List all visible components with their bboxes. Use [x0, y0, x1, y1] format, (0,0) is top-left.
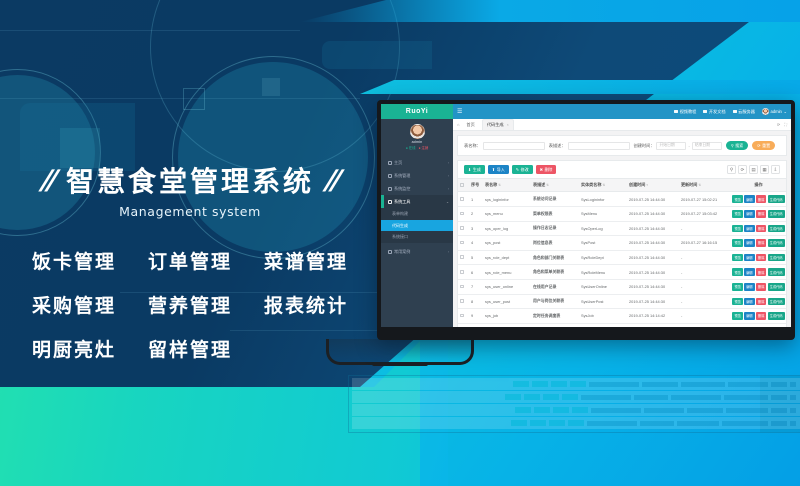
doc-icon — [703, 110, 707, 113]
cell-index: 3 — [469, 221, 483, 236]
feature-item: 订单管理 — [132, 247, 248, 274]
home-icon — [388, 161, 392, 165]
generate-code-button[interactable]: 生成代码 — [768, 239, 785, 247]
sidebar-item-label: 系统管理 — [394, 173, 410, 179]
app-topbar: ☰ 视频教程 开发文档 云服务器 — [453, 104, 791, 119]
slash-left-icon: // — [41, 165, 56, 196]
reflection-table — [352, 378, 800, 430]
cloud-icon — [733, 110, 737, 113]
cell-updated: - — [679, 250, 731, 265]
tab-bar: ⌂ 首页 代码生成 × ⟳ ⛶ — [453, 119, 791, 131]
checkbox-icon[interactable] — [460, 241, 464, 245]
cell-created: 2019-07-25 14:14:42 — [627, 309, 679, 324]
delete-button[interactable]: 删除 — [756, 298, 766, 306]
home-icon[interactable]: ⌂ — [457, 122, 459, 127]
decor-line-1 — [0, 30, 300, 31]
cell-table-name: sys_user_post — [483, 294, 531, 309]
status-online: ● 在线 — [406, 145, 416, 150]
edit-button[interactable]: 编辑 — [744, 254, 754, 262]
cell-entity: SysJob — [579, 309, 627, 324]
generate-code-button[interactable]: 生成代码 — [768, 195, 785, 203]
cell-updated: - — [679, 309, 731, 324]
cell-actions: 预览 编辑 删除 生成代码 — [731, 250, 786, 265]
topbar-link-docs[interactable]: 开发文档 — [703, 109, 725, 115]
checkbox-icon[interactable] — [460, 270, 464, 274]
generate-code-button[interactable]: 生成代码 — [768, 283, 785, 291]
topbar-link-label: 云服务器 — [738, 109, 755, 115]
edit-button[interactable]: 编辑 — [744, 298, 754, 306]
column-entity-name[interactable]: 实体类名称⇅ — [579, 179, 627, 192]
chevron-right-icon: › — [448, 250, 449, 254]
cell-created: 2019-07-24 14:57:03 — [627, 323, 679, 327]
row-checkbox-cell[interactable] — [458, 309, 469, 324]
sidebar-item-label: 系统工具 — [394, 199, 410, 205]
cell-table-desc: 角色信息表 — [531, 323, 579, 327]
cell-table-name: sys_role — [483, 323, 531, 327]
field-label: 表描述： — [549, 143, 566, 149]
sidebar-menu: 主页 › 系统管理 › 系统监控 › 系统工具 — [381, 157, 453, 259]
table-row[interactable]: 9 sys_job 定时任务调度表 SysJob 2019-07-25 14:1… — [458, 309, 786, 324]
trash-icon: ✖ — [540, 167, 543, 172]
cell-created: 2019-07-25 14:44:30 — [627, 294, 679, 309]
monitor-stand — [326, 339, 474, 365]
cell-entity: SysMenu — [579, 206, 627, 221]
sidebar-item-label: 主页 — [394, 160, 402, 166]
cell-entity: SysLogininfor — [579, 192, 627, 207]
field-create-time: 创建时间： 开始日期 - 结束日期 — [634, 142, 722, 150]
cell-index: 2 — [469, 206, 483, 221]
feature-item: 报表统计 — [248, 291, 364, 318]
top-accent-line — [360, 80, 800, 94]
topbar-link-video[interactable]: 视频教程 — [674, 109, 696, 115]
cell-actions: 预览 编辑 删除 生成代码 — [731, 192, 786, 207]
menu-toggle-icon[interactable]: ☰ — [457, 108, 462, 115]
chevron-right-icon: › — [448, 174, 449, 178]
reset-button[interactable]: ⟳ 重置 — [752, 141, 775, 150]
avatar[interactable] — [410, 124, 425, 139]
topbar-link-label: 开发文档 — [709, 109, 726, 115]
field-label: 表名称： — [464, 143, 481, 149]
delete-button[interactable]: 删除 — [756, 268, 766, 276]
monitor-frame: RuoYi admin ● 在线 ● 注销 主页 › — [377, 100, 795, 340]
cell-actions: 预览 编辑 删除 生成代码 — [731, 221, 786, 236]
cell-entity: SysOperLog — [579, 221, 627, 236]
topbar-username: admin — [770, 109, 781, 114]
search-button[interactable]: ⚲ 搜索 — [726, 141, 748, 150]
feature-list: 饭卡管理 订单管理 菜谱管理 采购管理 营养管理 报表统计 明厨亮灶 留样管理 — [0, 247, 380, 362]
cell-index: 5 — [469, 250, 483, 265]
decor-line-2 — [0, 98, 360, 99]
table-header-row: 序号 表名称⇅ 表描述⇅ 实体类名称⇅ 创建时间▾ 更新时间⇅ 操作 — [458, 179, 786, 192]
feature-item: 留样管理 — [132, 335, 248, 362]
cell-updated: 2019-07-27 16:16:15 — [679, 236, 731, 251]
chevron-down-icon: ⌄ — [446, 200, 449, 204]
cell-entity: SysUserOnline — [579, 279, 627, 294]
tab-home[interactable]: 首页 — [462, 120, 478, 130]
grid-icon[interactable]: ▦ — [760, 165, 769, 174]
columns-icon[interactable]: ▤ — [749, 165, 758, 174]
cell-entity: SysUserPost — [579, 294, 627, 309]
date-range-separator: - — [688, 143, 689, 148]
topbar-user-menu[interactable]: admin ⌄ — [762, 108, 787, 115]
reflection-row — [352, 391, 800, 403]
cell-table-name: sys_role_dept — [483, 250, 531, 265]
table-toolbar-icons: ⚲ ⟳ ▤ ▦ ⇩ — [727, 165, 780, 174]
edit-button[interactable]: 编辑 — [744, 195, 754, 203]
cell-updated: - — [679, 265, 731, 280]
cell-updated: - — [679, 294, 731, 309]
edit-button[interactable]: 编辑 — [744, 312, 754, 320]
column-select-all[interactable] — [458, 179, 469, 192]
cell-created: 2019-07-25 14:44:30 — [627, 265, 679, 280]
decor-rect-2 — [322, 41, 432, 69]
search-input-table-name[interactable] — [483, 142, 545, 150]
cell-table-desc: 岗位信息表 — [531, 236, 579, 251]
import-button[interactable]: ⬆ 导入 — [488, 165, 509, 174]
row-checkbox-cell[interactable] — [458, 192, 469, 207]
preview-button[interactable]: 预览 — [732, 210, 742, 218]
cell-updated: - — [679, 279, 731, 294]
cell-created: 2019-07-25 14:44:30 — [627, 221, 679, 236]
cell-table-name: sys_menu — [483, 206, 531, 221]
video-icon — [674, 110, 678, 113]
refresh-icon[interactable]: ⟳ — [777, 122, 780, 127]
row-checkbox-cell[interactable] — [458, 236, 469, 251]
delete-button[interactable]: 删除 — [756, 195, 766, 203]
cell-table-name: sys_role_menu — [483, 265, 531, 280]
tab-bar-right: ⟳ ⛶ — [777, 122, 787, 127]
table-body: 1 sys_logininfor 系统访问记录 SysLogininfor 20… — [458, 192, 786, 327]
sidebar-item-cases[interactable]: 常用案例 › — [381, 246, 453, 259]
preview-button[interactable]: 预览 — [732, 239, 742, 247]
checkbox-icon[interactable] — [460, 314, 464, 318]
app-logo[interactable]: RuoYi — [381, 104, 453, 119]
generate-button-label: 生成 — [473, 167, 481, 173]
sidebar-status: ● 在线 ● 注销 — [385, 145, 449, 150]
cell-created: 2019-07-25 14:44:30 — [627, 236, 679, 251]
sort-icon: ⇅ — [698, 183, 701, 187]
sidebar-item-system[interactable]: 系统管理 › — [381, 170, 453, 183]
screen: RuoYi admin ● 在线 ● 注销 主页 › — [381, 104, 791, 327]
sidebar-username: admin — [385, 140, 449, 144]
cell-updated: - — [679, 323, 731, 327]
sort-icon: ⇅ — [498, 183, 501, 187]
checkbox-icon[interactable] — [460, 299, 464, 303]
cell-table-desc: 系统访问记录 — [531, 192, 579, 207]
cell-updated: 2019-07-27 15:02:21 — [679, 192, 731, 207]
checkbox-icon[interactable] — [460, 226, 464, 230]
fullscreen-icon[interactable]: ⛶ — [784, 122, 787, 127]
field-label: 创建时间： — [634, 143, 655, 149]
cell-table-desc: 用户与岗位关联表 — [531, 294, 579, 309]
export-icon[interactable]: ⇩ — [771, 165, 780, 174]
delete-button-label: 删除 — [544, 167, 552, 173]
chevron-right-icon: › — [448, 161, 449, 165]
table-row[interactable]: 6 sys_role_menu 角色和菜单关联表 SysRoleMenu 201… — [458, 265, 786, 280]
row-checkbox-cell[interactable] — [458, 250, 469, 265]
table-row[interactable]: 1 sys_logininfor 系统访问记录 SysLogininfor 20… — [458, 192, 786, 207]
field-table-desc: 表描述： — [549, 142, 630, 150]
refresh-icon[interactable]: ⟳ — [738, 165, 747, 174]
pencil-icon: ✎ — [516, 167, 519, 172]
tab-label: 代码生成 — [487, 122, 504, 127]
row-checkbox-cell[interactable] — [458, 206, 469, 221]
sort-desc-icon: ▾ — [646, 183, 648, 187]
cell-updated: - — [679, 221, 731, 236]
cell-actions: 预览 编辑 删除 生成代码 — [731, 236, 786, 251]
delete-button[interactable]: 删除 — [756, 254, 766, 262]
poster-canvas: // 智慧食堂管理系统 // Management system 饭卡管理 订单… — [0, 0, 800, 486]
edit-button[interactable]: 编辑 — [744, 210, 754, 218]
checkbox-icon[interactable] — [460, 285, 464, 289]
search-input-table-desc[interactable] — [568, 142, 630, 150]
cell-index: 9 — [469, 309, 483, 324]
cell-actions: 预览 编辑 删除 生成代码 — [731, 206, 786, 221]
tab-code-gen[interactable]: 代码生成 × — [482, 119, 514, 130]
cell-created: 2019-07-25 14:44:30 — [627, 192, 679, 207]
cell-entity: SysRole — [579, 323, 627, 327]
table-row[interactable]: 2 sys_menu 菜单权限表 SysMenu 2019-07-25 14:4… — [458, 206, 786, 221]
checkbox-icon[interactable] — [460, 255, 464, 259]
column-table-name[interactable]: 表名称⇅ — [483, 179, 531, 192]
edit-button[interactable]: 编辑 — [744, 283, 754, 291]
edit-button[interactable]: 编辑 — [744, 225, 754, 233]
cell-index: 10 — [469, 323, 483, 327]
row-checkbox-cell[interactable] — [458, 323, 469, 327]
sidebar-item-monitor[interactable]: 系统监控 › — [381, 183, 453, 196]
cell-index: 8 — [469, 294, 483, 309]
page-subtitle: Management system — [0, 204, 380, 219]
generate-code-button[interactable]: 生成代码 — [768, 312, 785, 320]
cell-table-desc: 操作日志记录 — [531, 221, 579, 236]
edit-button[interactable]: 编辑 — [744, 239, 754, 247]
cell-actions: 预览 编辑 删除 生成代码 — [731, 323, 786, 327]
delete-button[interactable]: 删除 — [756, 312, 766, 320]
delete-button[interactable]: 删除 — [756, 210, 766, 218]
cell-actions: 预览 编辑 删除 生成代码 — [731, 265, 786, 280]
search-button-label: 搜索 — [735, 143, 743, 149]
generate-code-button[interactable]: 生成代码 — [768, 268, 785, 276]
table-row[interactable]: 10 sys_role 角色信息表 SysRole 2019-07-24 14:… — [458, 323, 786, 327]
cell-index: 7 — [469, 279, 483, 294]
app-sidebar: RuoYi admin ● 在线 ● 注销 主页 › — [381, 104, 453, 327]
cell-actions: 预览 编辑 删除 生成代码 — [731, 279, 786, 294]
reflection-row — [352, 378, 800, 390]
row-checkbox-cell[interactable] — [458, 265, 469, 280]
field-table-name: 表名称： — [464, 142, 545, 150]
feature-item: 明厨亮灶 — [16, 335, 132, 362]
table-row[interactable]: 5 sys_role_dept 角色和部门关联表 SysRoleDept 201… — [458, 250, 786, 265]
tools-icon — [388, 200, 392, 204]
feature-item: 采购管理 — [16, 291, 132, 318]
topbar-link-cloud[interactable]: 云服务器 — [733, 109, 755, 115]
date-end-input[interactable]: 结束日期 — [692, 142, 722, 150]
cloud-icon — [388, 250, 392, 254]
column-created-time[interactable]: 创建时间▾ — [627, 179, 679, 192]
status-logout[interactable]: ● 注销 — [419, 145, 429, 150]
gear-icon — [388, 174, 392, 178]
cell-entity: SysRoleDept — [579, 250, 627, 265]
delete-button[interactable]: 删除 — [756, 225, 766, 233]
import-button-label: 导入 — [497, 167, 505, 173]
close-icon[interactable]: × — [507, 123, 509, 127]
preview-button[interactable]: 预览 — [732, 254, 742, 262]
download-icon: ⬇ — [468, 167, 471, 172]
slash-right-icon: // — [324, 165, 339, 196]
cell-table-name: sys_logininfor — [483, 192, 531, 207]
column-updated-time[interactable]: 更新时间⇅ — [679, 179, 731, 192]
search-panel: 表名称： 表描述： 创建时间： 开始日期 - 结束日期 — [457, 135, 787, 156]
table-row[interactable]: 3 sys_oper_log 操作日志记录 SysOperLog 2019-07… — [458, 221, 786, 236]
generate-button[interactable]: ⬇ 生成 — [464, 165, 485, 174]
sidebar-item-tools[interactable]: 系统工具 ⌄ — [381, 195, 453, 208]
page-title: 智慧食堂管理系统 — [66, 160, 314, 200]
generate-code-button[interactable]: 生成代码 — [768, 225, 785, 233]
cell-index: 6 — [469, 265, 483, 280]
sidebar-subitem-api[interactable]: 系统接口 — [381, 231, 453, 243]
page-content: 表名称： 表描述： 创建时间： 开始日期 - 结束日期 — [453, 131, 791, 327]
modify-button[interactable]: ✎ 修改 — [512, 165, 533, 174]
delete-button[interactable]: ✖ 删除 — [536, 165, 557, 174]
sidebar-subitem-code-gen[interactable]: 代码生成 — [381, 220, 453, 232]
generate-code-button[interactable]: 生成代码 — [768, 254, 785, 262]
column-index: 序号 — [469, 179, 483, 192]
table-row[interactable]: 7 sys_user_online 在线用户记录 SysUserOnline 2… — [458, 279, 786, 294]
preview-button[interactable]: 预览 — [732, 283, 742, 291]
poster-headline: // 智慧食堂管理系统 // Management system 饭卡管理 订单… — [0, 160, 380, 362]
sidebar-subitem-form-builder[interactable]: 表单构建 — [381, 208, 453, 220]
topbar-link-label: 视频教程 — [680, 109, 697, 115]
table-panel: ⬇ 生成 ⬆ 导入 ✎ 修改 — [457, 160, 787, 327]
cell-created: 2019-07-25 14:44:30 — [627, 279, 679, 294]
sort-icon: ⇅ — [546, 183, 549, 187]
table-row[interactable]: 4 sys_post 岗位信息表 SysPost 2019-07-25 14:4… — [458, 236, 786, 251]
edit-button[interactable]: 编辑 — [744, 268, 754, 276]
cell-table-name: sys_user_online — [483, 279, 531, 294]
cell-table-desc: 定时任务调度表 — [531, 309, 579, 324]
preview-button[interactable]: 预览 — [732, 268, 742, 276]
sidebar-profile[interactable]: admin ● 在线 ● 注销 — [381, 119, 453, 154]
monitor-icon — [388, 187, 392, 191]
delete-button[interactable]: 删除 — [756, 283, 766, 291]
column-actions: 操作 — [731, 179, 786, 192]
cell-index: 1 — [469, 192, 483, 207]
generate-code-button[interactable]: 生成代码 — [768, 210, 785, 218]
upload-icon: ⬆ — [492, 167, 495, 172]
feature-item: 菜谱管理 — [248, 247, 364, 274]
refresh-icon: ⟳ — [757, 143, 760, 148]
search-icon: ⚲ — [731, 143, 734, 148]
sidebar-item-label: 系统监控 — [394, 186, 410, 192]
chevron-down-icon: ⌄ — [783, 109, 787, 114]
delete-button[interactable]: 删除 — [756, 239, 766, 247]
decor-rect-4 — [183, 88, 205, 110]
cell-actions: 预览 编辑 删除 生成代码 — [731, 309, 786, 324]
avatar — [762, 108, 769, 115]
app-main: ☰ 视频教程 开发文档 云服务器 — [453, 104, 791, 327]
search-icon[interactable]: ⚲ — [727, 165, 736, 174]
reflection-row — [352, 417, 800, 429]
cell-entity: SysPost — [579, 236, 627, 251]
table-row[interactable]: 8 sys_user_post 用户与岗位关联表 SysUserPost 201… — [458, 294, 786, 309]
cell-updated: 2019-07-27 15:03:42 — [679, 206, 731, 221]
table-toolbar: ⬇ 生成 ⬆ 导入 ✎ 修改 — [458, 161, 786, 178]
cell-table-name: sys_post — [483, 236, 531, 251]
checkbox-icon[interactable] — [460, 212, 464, 216]
date-start-input[interactable]: 开始日期 — [656, 142, 686, 150]
chevron-right-icon: › — [448, 187, 449, 191]
cell-index: 4 — [469, 236, 483, 251]
column-table-desc[interactable]: 表描述⇅ — [531, 179, 579, 192]
reset-button-label: 重置 — [762, 143, 770, 149]
feature-item: 营养管理 — [132, 291, 248, 318]
preview-button[interactable]: 预览 — [732, 298, 742, 306]
preview-button[interactable]: 预览 — [732, 312, 742, 320]
cell-created: 2019-07-25 14:44:30 — [627, 250, 679, 265]
sort-icon: ⇅ — [602, 183, 605, 187]
top-stripe — [300, 0, 800, 22]
preview-button[interactable]: 预览 — [732, 195, 742, 203]
row-checkbox-cell[interactable] — [458, 279, 469, 294]
generate-code-button[interactable]: 生成代码 — [768, 298, 785, 306]
cell-entity: SysRoleMenu — [579, 265, 627, 280]
feature-item: 饭卡管理 — [16, 247, 132, 274]
decor-rect-5 — [262, 78, 280, 96]
cell-table-desc: 在线用户记录 — [531, 279, 579, 294]
sidebar-item-home[interactable]: 主页 › — [381, 157, 453, 170]
decor-ring-top — [150, 0, 400, 172]
row-checkbox-cell[interactable] — [458, 221, 469, 236]
checkbox-icon[interactable] — [460, 197, 464, 201]
cell-table-name: sys_oper_log — [483, 221, 531, 236]
topbar-right: 视频教程 开发文档 云服务器 admin — [674, 108, 787, 115]
modify-button-label: 修改 — [521, 167, 529, 173]
title-row: // 智慧食堂管理系统 // — [0, 160, 380, 200]
reflection-row — [352, 404, 800, 416]
preview-button[interactable]: 预览 — [732, 225, 742, 233]
cell-table-desc: 菜单权限表 — [531, 206, 579, 221]
cell-table-name: sys_job — [483, 309, 531, 324]
cell-table-desc: 角色和部门关联表 — [531, 250, 579, 265]
cell-actions: 预览 编辑 删除 生成代码 — [731, 294, 786, 309]
row-checkbox-cell[interactable] — [458, 294, 469, 309]
cell-table-desc: 角色和菜单关联表 — [531, 265, 579, 280]
cell-created: 2019-07-25 14:44:30 — [627, 206, 679, 221]
data-table: 序号 表名称⇅ 表描述⇅ 实体类名称⇅ 创建时间▾ 更新时间⇅ 操作 — [458, 178, 786, 327]
checkbox-icon[interactable] — [460, 183, 464, 187]
sidebar-item-label: 常用案例 — [394, 249, 410, 255]
